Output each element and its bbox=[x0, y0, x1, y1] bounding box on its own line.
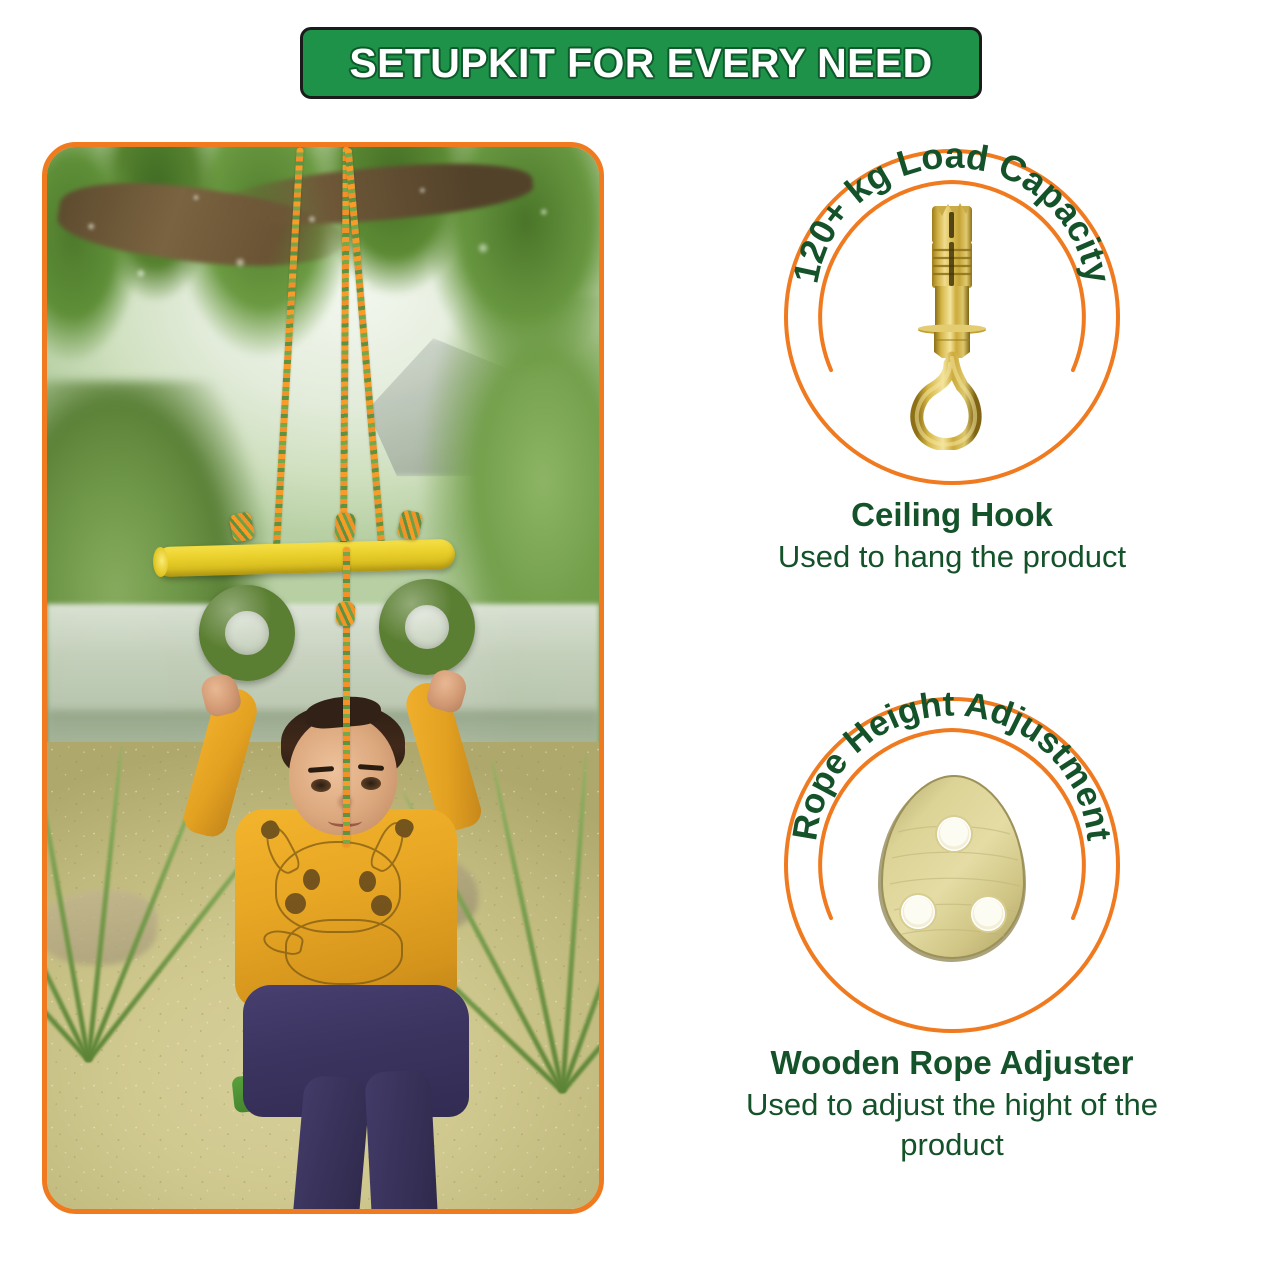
ceiling-hook-title: Ceiling Hook bbox=[624, 496, 1280, 535]
rope-adjuster-title: Wooden Rope Adjuster bbox=[624, 1044, 1280, 1083]
header-banner-label: SETUPKIT FOR EVERY NEED bbox=[349, 40, 932, 87]
ceiling-hook-caption: Ceiling Hook Used to hang the product bbox=[624, 496, 1280, 577]
rope-adjuster-caption: Wooden Rope Adjuster Used to adjust the … bbox=[624, 1044, 1280, 1164]
product-photo-panel bbox=[42, 142, 604, 1214]
child-leg-right bbox=[364, 1069, 440, 1209]
ceiling-hook-description: Used to hang the product bbox=[752, 537, 1152, 577]
infographic-canvas: SETUPKIT FOR EVERY NEED bbox=[0, 0, 1280, 1280]
child-eye-right bbox=[361, 777, 381, 790]
feature-ceiling-hook: 120+ kg Load Capacity bbox=[624, 142, 1280, 577]
rope-knot-lower bbox=[335, 602, 355, 627]
feature-wooden-rope-adjuster: Rope Height Adjustment bbox=[624, 690, 1280, 1164]
rope-adjuster-description: Used to adjust the hight of the product bbox=[737, 1085, 1167, 1164]
rope-adjuster-badge: Rope Height Adjustment bbox=[777, 690, 1127, 1040]
ceiling-hook-eye-bolt-icon bbox=[892, 200, 1012, 450]
wooden-rope-adjuster-icon bbox=[868, 772, 1036, 968]
child-on-swing bbox=[47, 147, 599, 1209]
swing-rope-lower-middle bbox=[343, 547, 350, 847]
ceiling-hook-badge: 120+ kg Load Capacity bbox=[777, 142, 1127, 492]
child-eye-left bbox=[311, 779, 331, 792]
pikachu-print bbox=[263, 835, 425, 991]
header-banner: SETUPKIT FOR EVERY NEED bbox=[300, 27, 982, 99]
product-photo bbox=[47, 147, 599, 1209]
